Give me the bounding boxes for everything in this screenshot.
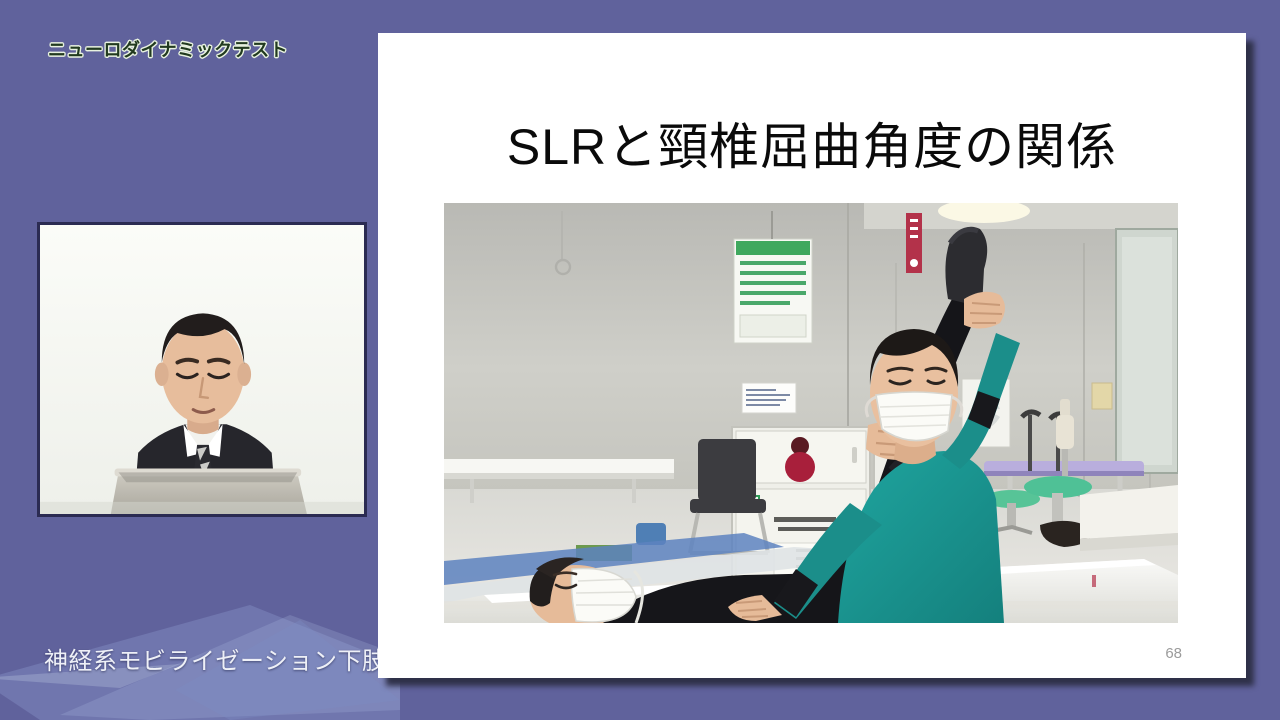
slr-demonstration-illustration: [444, 203, 1178, 623]
presentation-slide: SLRと頸椎屈曲角度の関係: [378, 33, 1246, 678]
video-player-frame: ニューロダイナミックテスト 神経系モビライゼーション下肢編: [0, 0, 1280, 720]
presenter-image: [40, 225, 364, 515]
lesson-label: ニューロダイナミックテスト: [48, 36, 288, 62]
slide-title: SLRと頸椎屈曲角度の関係: [378, 107, 1246, 179]
course-title: 神経系モビライゼーション下肢編: [44, 641, 411, 676]
decorative-polygons: [0, 560, 400, 720]
slide-page-number: 68: [1165, 645, 1182, 662]
presenter-webcam: [37, 222, 367, 517]
slide-photo: [444, 203, 1178, 623]
